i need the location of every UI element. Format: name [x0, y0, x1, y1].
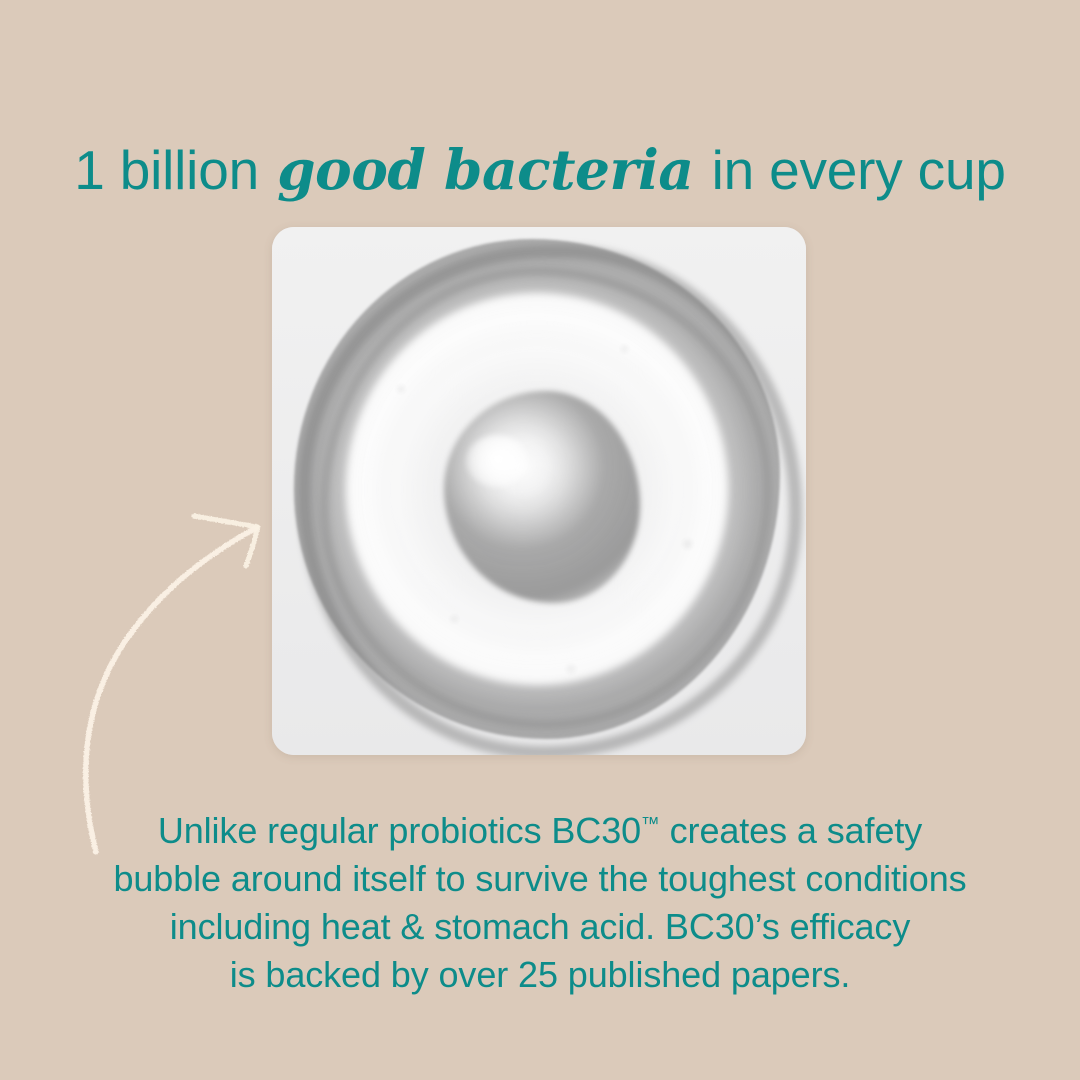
description-line-3: including heat & stomach acid. BC30’s ef… — [0, 903, 1080, 951]
description-line-1-a: Unlike regular probiotics BC30 — [158, 810, 641, 851]
description-paragraph: Unlike regular probiotics BC30™ creates … — [0, 800, 1080, 999]
page-title: 1 billion good bacteria in every cup — [0, 137, 1080, 203]
promo-graphic: 1 billion good bacteria in every cup — [0, 0, 1080, 1080]
description-line-4: is backed by over 25 published papers. — [0, 951, 1080, 999]
trademark-symbol: ™ — [641, 813, 660, 834]
bacteria-colony-photo — [294, 239, 780, 739]
headline-emphasis: good bacteria — [274, 137, 696, 202]
bacteria-photo-card — [272, 227, 806, 755]
photo-background — [272, 227, 806, 755]
headline-part-two: in every cup — [712, 139, 1006, 201]
description-line-1-b: creates a safety — [660, 810, 922, 851]
description-line-2: bubble around itself to survive the toug… — [0, 855, 1080, 903]
headline-part-one: 1 billion — [74, 139, 259, 201]
description-line-1: Unlike regular probiotics BC30™ creates … — [0, 800, 1080, 855]
colony-texture-grain — [294, 239, 780, 739]
